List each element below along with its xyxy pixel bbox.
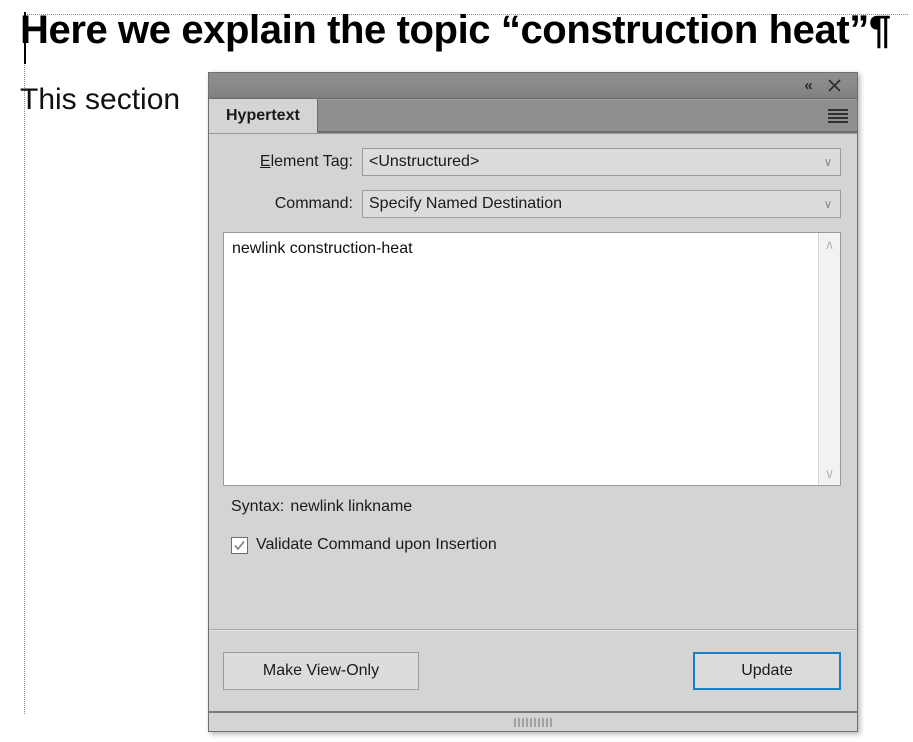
- command-editor-wrapper: newlink construction-heat ∧ ∨: [223, 232, 841, 486]
- document-heading: Here we explain the topic “construction …: [20, 10, 891, 50]
- validate-command-checkbox[interactable]: [231, 537, 248, 554]
- element-tag-dropdown[interactable]: <Unstructured> ∨: [362, 148, 841, 176]
- hamburger-menu-icon[interactable]: [828, 109, 848, 123]
- validate-command-row[interactable]: Validate Command upon Insertion: [231, 536, 841, 554]
- pilcrow-mark: ¶: [869, 8, 891, 52]
- tab-hypertext[interactable]: Hypertext: [209, 99, 318, 133]
- scroll-up-icon[interactable]: ∧: [825, 238, 835, 251]
- panel-tabstrip: Hypertext: [209, 99, 857, 134]
- element-tag-label-text: lement Tag:: [271, 153, 353, 170]
- syntax-hint: Syntax:newlink linkname: [231, 498, 841, 516]
- syntax-text: newlink linkname: [290, 498, 412, 515]
- tabstrip-filler: [318, 99, 857, 133]
- panel-body: Element Tag: <Unstructured> ∨ Command: S…: [209, 134, 857, 629]
- chevron-down-icon: ∨: [816, 197, 840, 211]
- document-heading-text: Here we explain the topic “construction …: [20, 8, 869, 52]
- command-dropdown[interactable]: Specify Named Destination ∨: [362, 190, 841, 218]
- panel-titlebar: «: [209, 73, 857, 99]
- validate-command-label: Validate Command upon Insertion: [256, 536, 497, 554]
- command-editor-scrollbar[interactable]: ∧ ∨: [818, 233, 840, 485]
- syntax-label: Syntax:: [231, 498, 284, 515]
- document-body-text: This section: [20, 82, 180, 118]
- update-button[interactable]: Update: [693, 652, 841, 690]
- command-label: Command:: [223, 195, 362, 213]
- resize-grip-icon[interactable]: [514, 718, 552, 727]
- chevron-down-icon: ∨: [816, 155, 840, 169]
- command-editor-input[interactable]: newlink construction-heat: [224, 233, 818, 485]
- command-value: Specify Named Destination: [369, 195, 816, 213]
- panel-resize-gripbar[interactable]: [209, 711, 857, 731]
- scroll-down-icon[interactable]: ∨: [825, 467, 835, 480]
- make-view-only-button[interactable]: Make View-Only: [223, 652, 419, 690]
- element-tag-value: <Unstructured>: [369, 153, 816, 171]
- panel-footer: Make View-Only Update: [209, 629, 857, 711]
- close-icon[interactable]: [821, 75, 847, 97]
- hypertext-panel: « Hypertext Element Tag: <Unstructured> …: [208, 72, 858, 732]
- element-tag-label: Element Tag:: [223, 153, 362, 171]
- command-row: Command: Specify Named Destination ∨: [223, 190, 841, 218]
- collapse-icon[interactable]: «: [795, 75, 821, 97]
- element-tag-accelerator: E: [260, 153, 271, 170]
- element-tag-row: Element Tag: <Unstructured> ∨: [223, 148, 841, 176]
